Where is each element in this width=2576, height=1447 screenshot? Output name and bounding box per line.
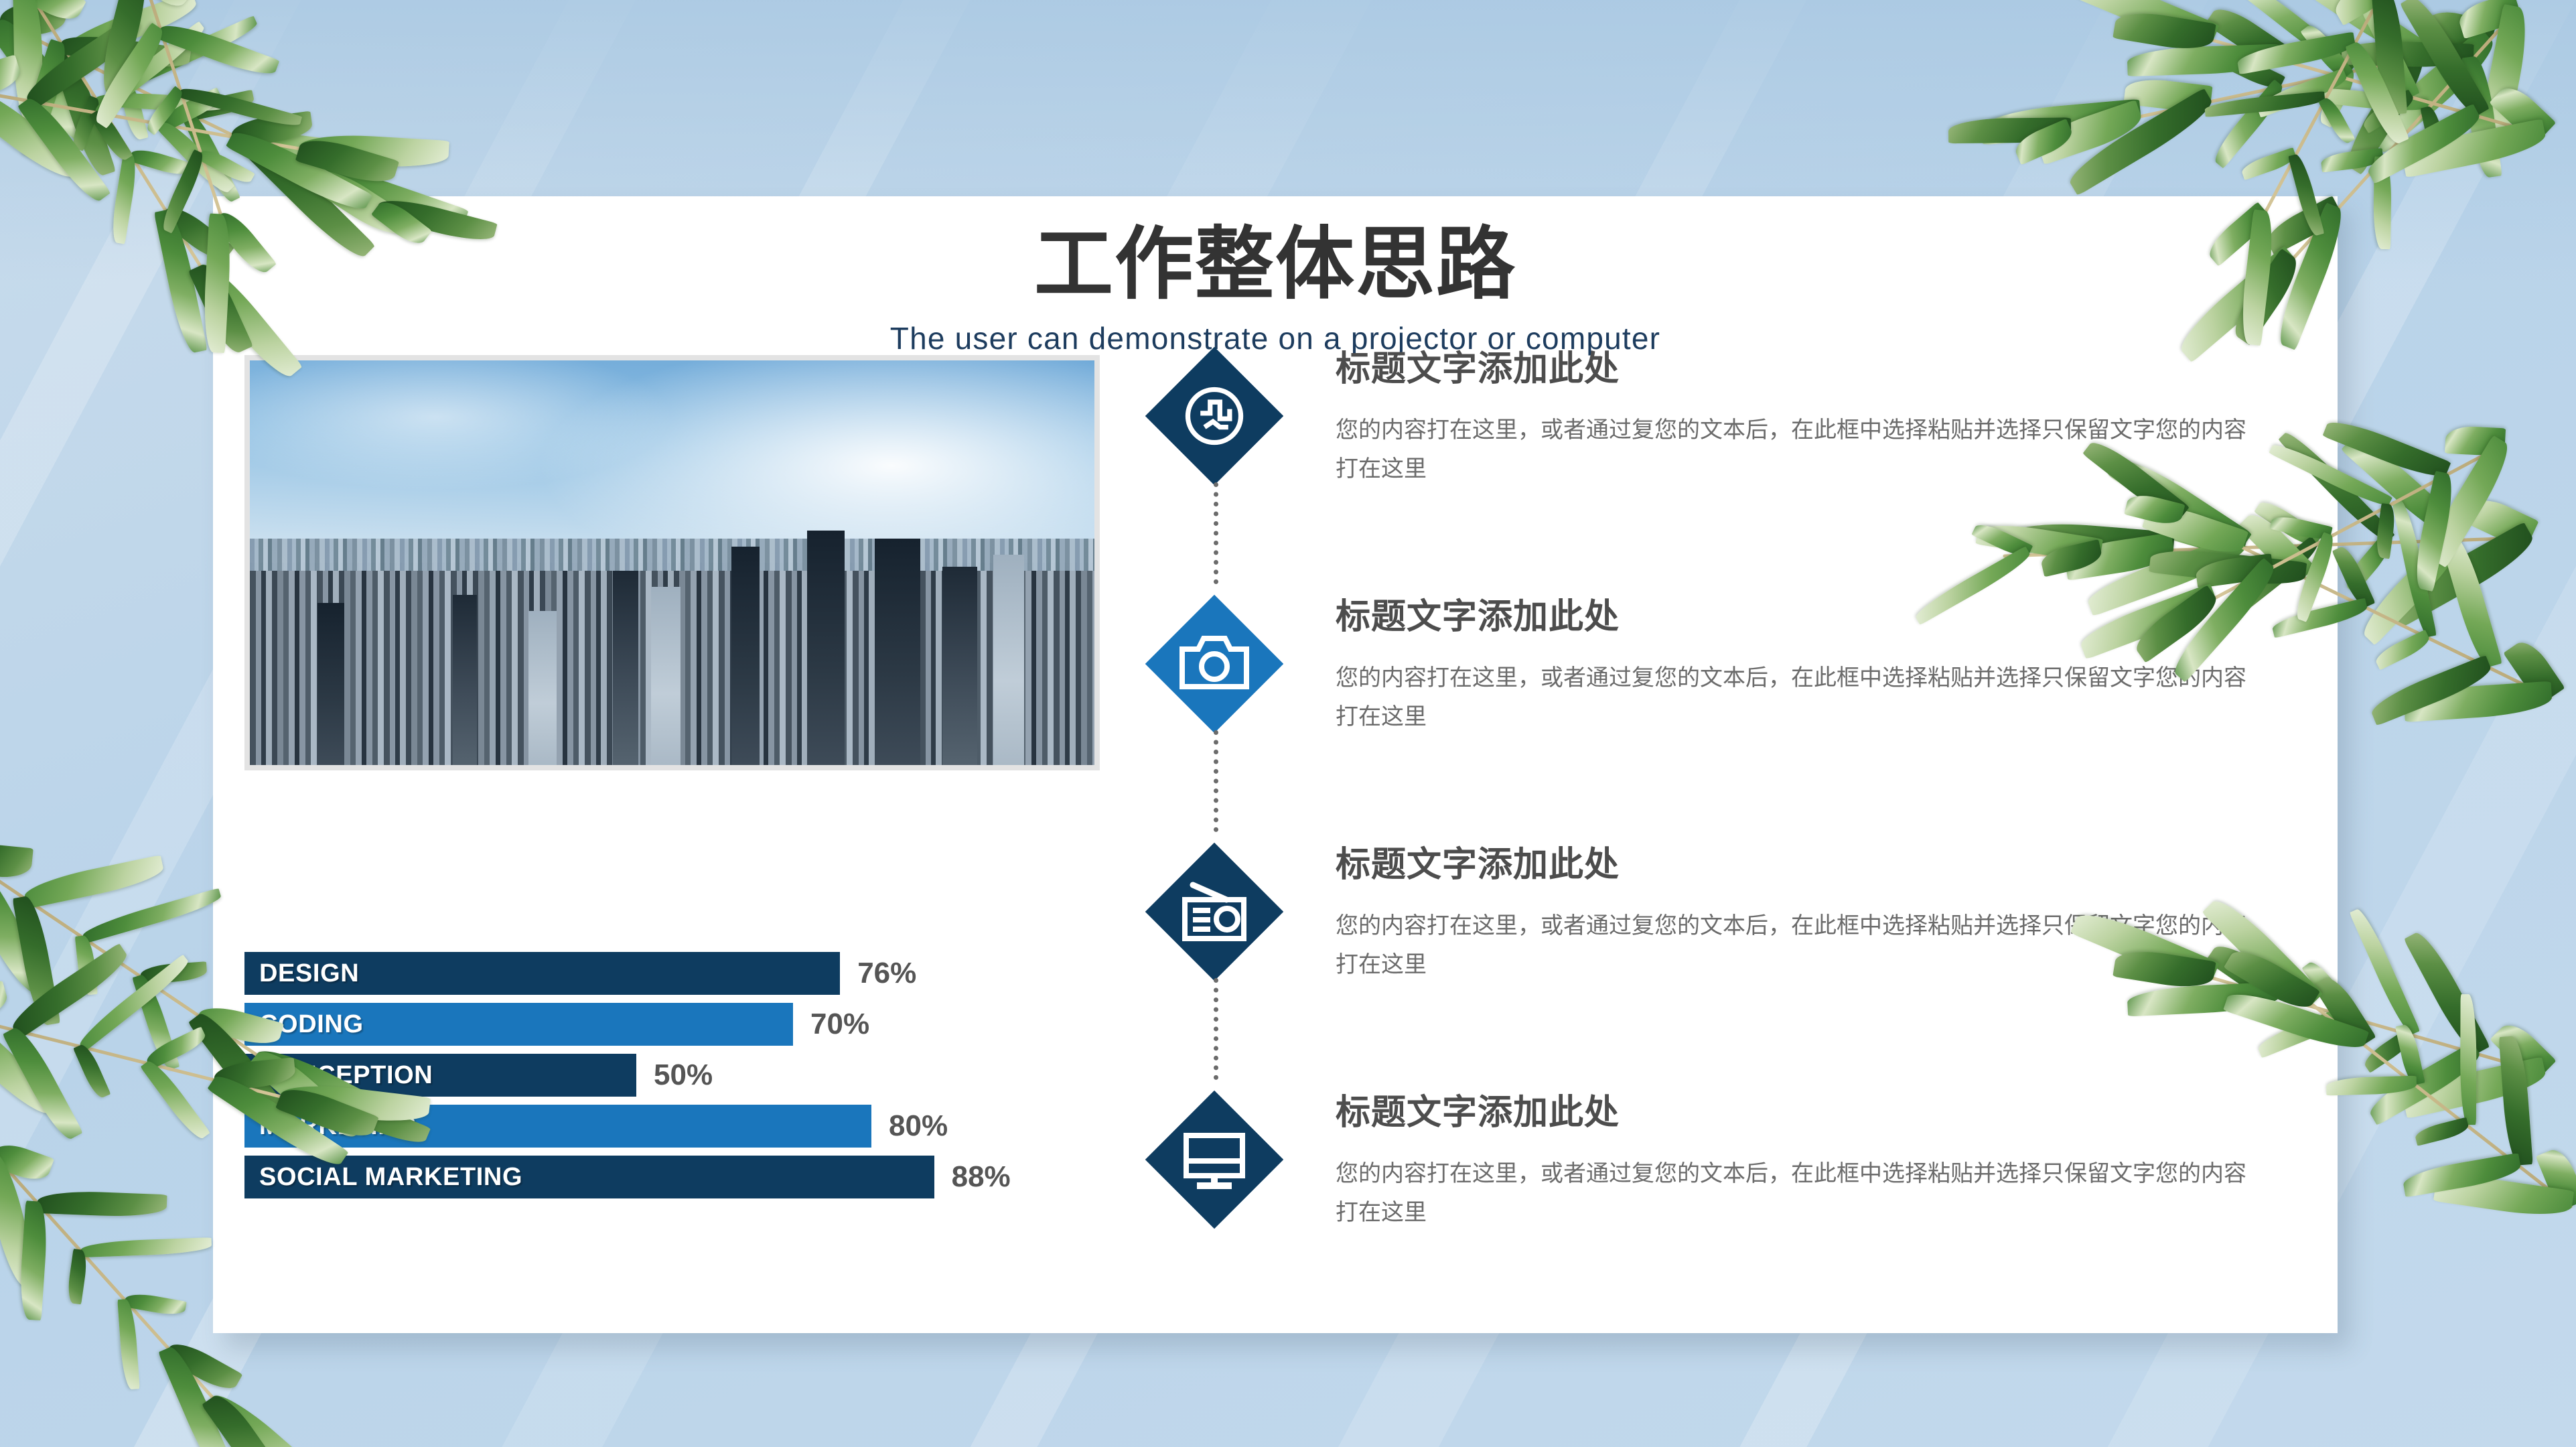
photo-tower bbox=[453, 595, 477, 765]
step-title: 标题文字添加此处 bbox=[1336, 1084, 2253, 1134]
bar-row: SOCIAL MARKETING88% bbox=[244, 1156, 1169, 1198]
bar-row: DESIGN76% bbox=[244, 952, 1169, 995]
step-connector-line bbox=[1214, 978, 1218, 1080]
step-body: 标题文字添加此处您的内容打在这里，或者通过复您的文本后，在此框中选择粘贴并选择只… bbox=[1336, 340, 2253, 489]
step-body: 标题文字添加此处您的内容打在这里，或者通过复您的文本后，在此框中选择粘贴并选择只… bbox=[1336, 836, 2253, 985]
photo-tower bbox=[942, 567, 977, 765]
bar-fill: CONCEPTION bbox=[244, 1054, 636, 1097]
bar-category-label: SOCIAL MARKETING bbox=[259, 1163, 522, 1192]
bar-value-label: 70% bbox=[810, 1008, 869, 1041]
bar-row: MARKETING80% bbox=[244, 1105, 1169, 1148]
bar-category-label: CODING bbox=[259, 1010, 364, 1039]
page-title: 工作整体思路 bbox=[213, 222, 2338, 307]
bar-value-label: 88% bbox=[952, 1160, 1011, 1194]
step-description: 您的内容打在这里，或者通过复您的文本后，在此框中选择粘贴并选择只保留文字您的内容… bbox=[1336, 906, 2253, 985]
aperture-icon bbox=[1151, 352, 1278, 480]
process-step[interactable]: 标题文字添加此处您的内容打在这里，或者通过复您的文本后，在此框中选择粘贴并选择只… bbox=[1151, 588, 2303, 836]
step-description: 您的内容打在这里，或者通过复您的文本后，在此框中选择粘贴并选择只保留文字您的内容… bbox=[1336, 411, 2253, 489]
photo-tower bbox=[731, 547, 760, 765]
photo-tower bbox=[317, 603, 344, 765]
step-body: 标题文字添加此处您的内容打在这里，或者通过复您的文本后，在此框中选择粘贴并选择只… bbox=[1336, 1084, 2253, 1233]
bar-category-label: CONCEPTION bbox=[259, 1061, 433, 1090]
camera-icon bbox=[1151, 600, 1278, 728]
bar-row: CODING70% bbox=[244, 1003, 1169, 1046]
step-diamond[interactable] bbox=[1151, 352, 1278, 480]
photo-tower bbox=[651, 587, 681, 765]
photo-tower bbox=[993, 555, 1024, 765]
step-description: 您的内容打在这里，或者通过复您的文本后，在此框中选择粘贴并选择只保留文字您的内容… bbox=[1336, 659, 2253, 737]
bar-fill: MARKETING bbox=[244, 1105, 871, 1148]
process-step[interactable]: 标题文字添加此处您的内容打在这里，或者通过复您的文本后，在此框中选择粘贴并选择只… bbox=[1151, 836, 2303, 1084]
bar-category-label: DESIGN bbox=[259, 959, 359, 988]
city-skyline-photo bbox=[244, 355, 1100, 770]
skills-bar-chart: DESIGN76%CODING70%CONCEPTION50%MARKETING… bbox=[244, 952, 1169, 1207]
step-connector-line bbox=[1214, 482, 1218, 584]
step-diamond[interactable] bbox=[1151, 848, 1278, 975]
step-connector-line bbox=[1214, 730, 1218, 832]
bar-fill: DESIGN bbox=[244, 952, 840, 995]
radio-icon bbox=[1151, 848, 1278, 975]
step-diamond[interactable] bbox=[1151, 600, 1278, 728]
bar-value-label: 50% bbox=[654, 1058, 713, 1092]
bar-value-label: 80% bbox=[889, 1109, 948, 1143]
slide-header: 工作整体思路 The user can demonstrate on a pro… bbox=[213, 196, 2338, 356]
photo-tower bbox=[807, 531, 845, 765]
bar-value-label: 76% bbox=[857, 957, 916, 990]
step-description: 您的内容打在这里，或者通过复您的文本后，在此框中选择粘贴并选择只保留文字您的内容… bbox=[1336, 1154, 2253, 1233]
bar-fill: SOCIAL MARKETING bbox=[244, 1156, 934, 1198]
bar-fill: CODING bbox=[244, 1003, 793, 1046]
bar-category-label: MARKETING bbox=[259, 1112, 417, 1141]
photo-tower bbox=[875, 539, 920, 765]
bar-row: CONCEPTION50% bbox=[244, 1054, 1169, 1097]
step-body: 标题文字添加此处您的内容打在这里，或者通过复您的文本后，在此框中选择粘贴并选择只… bbox=[1336, 588, 2253, 737]
step-title: 标题文字添加此处 bbox=[1336, 588, 2253, 638]
photo-tower bbox=[528, 611, 557, 765]
slide-content-card: 工作整体思路 The user can demonstrate on a pro… bbox=[213, 196, 2338, 1333]
monitor-icon bbox=[1151, 1096, 1278, 1223]
step-title: 标题文字添加此处 bbox=[1336, 836, 2253, 886]
process-step[interactable]: 标题文字添加此处您的内容打在这里，或者通过复您的文本后，在此框中选择粘贴并选择只… bbox=[1151, 340, 2303, 588]
step-title: 标题文字添加此处 bbox=[1336, 340, 2253, 391]
step-diamond[interactable] bbox=[1151, 1096, 1278, 1223]
process-step[interactable]: 标题文字添加此处您的内容打在这里，或者通过复您的文本后，在此框中选择粘贴并选择只… bbox=[1151, 1084, 2303, 1305]
process-steps-list: 标题文字添加此处您的内容打在这里，或者通过复您的文本后，在此框中选择粘贴并选择只… bbox=[1151, 340, 2303, 1305]
photo-tower bbox=[613, 571, 638, 765]
